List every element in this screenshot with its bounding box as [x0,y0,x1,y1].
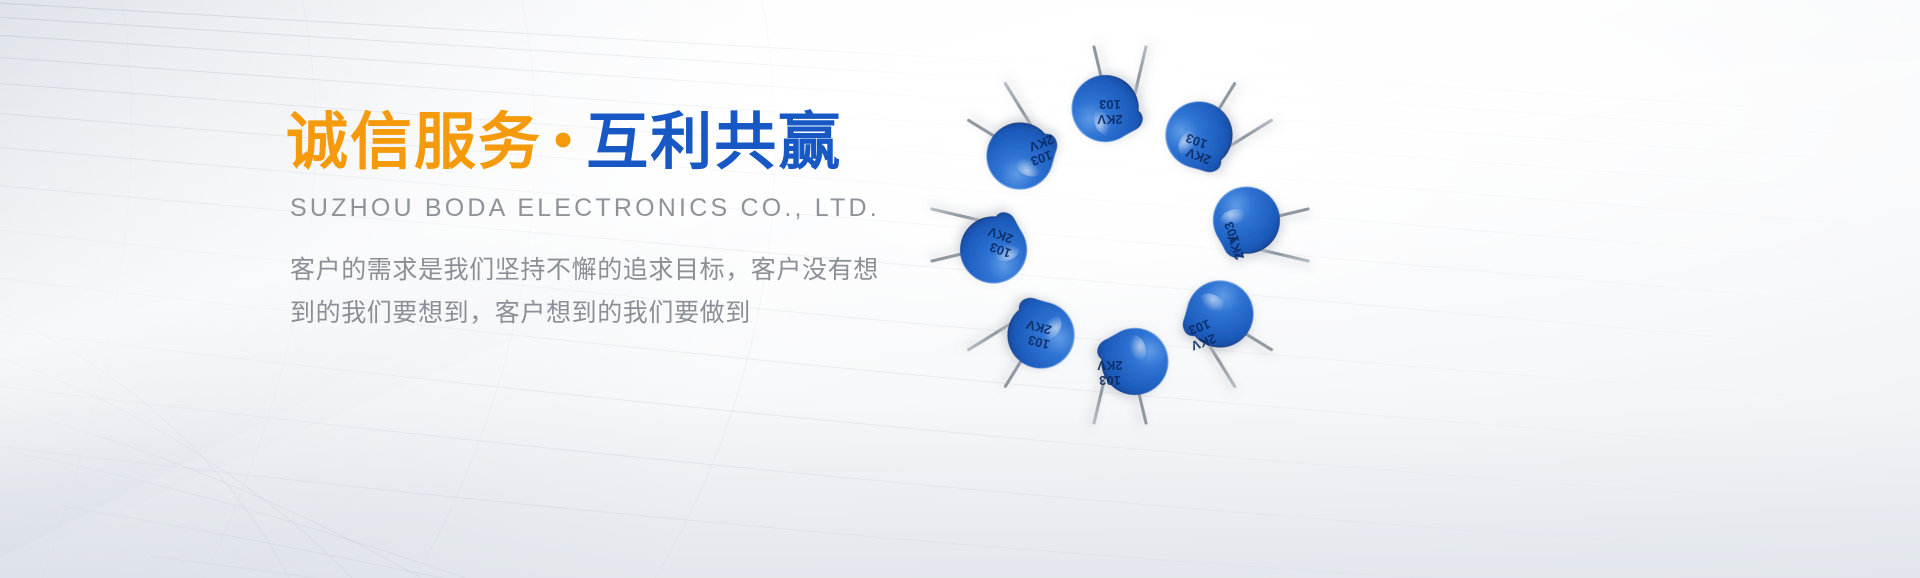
headline-blue-segment: 互利共赢 [586,108,842,177]
capacitor-ring-image: 103 2KV 103 2KV 103 2KV [930,45,1310,425]
headline: 诚信服务•互利共赢 [286,110,966,176]
capacitor-bottom-left: 2KV 103 [969,283,1088,402]
description-line-1: 客户的需求是我们坚持不懈的追求目标，客户没有想 [290,249,915,292]
hero-banner: 诚信服务•互利共赢 SUZHOU BODA ELECTRONICS CO., L… [0,0,1920,578]
banner-description: 客户的需求是我们坚持不懈的追求目标，客户没有想 到的我们要想到，客户想到的我们要… [290,249,915,335]
capacitor-top-right: 103 2KV [1152,68,1272,188]
capacitor-marking-line1: 2KV [1097,358,1123,373]
banner-text-block: 诚信服务•互利共赢 SUZHOU BODA ELECTRONICS CO., L… [286,110,966,335]
capacitor-bottom-right: 103 2KV [1160,267,1287,394]
capacitor-marking-line2: 103 [1099,373,1121,388]
headline-separator-dot: • [542,111,586,169]
capacitor-marking-line2: 2KV [1097,112,1123,127]
capacitor-left: 2KV 103 [932,209,1027,283]
company-name-subtitle: SUZHOU BODA ELECTRONICS CO., LTD. [290,194,966,223]
capacitor-right: 103 2KV [1213,187,1308,262]
description-line-2: 到的我们要想到，客户想到的我们要做到 [290,292,915,335]
headline-orange-segment: 诚信服务 [286,108,542,177]
capacitor-ring-svg: 103 2KV 103 2KV 103 2KV [930,45,1310,425]
capacitor-top-left: 2KV 103 [953,82,1074,203]
capacitor-group: 103 2KV 103 2KV 103 2KV [932,47,1308,423]
capacitor-marking-line1: 103 [1099,97,1121,112]
capacitor-top: 103 2KV [1072,47,1146,142]
capacitor-bottom: 2KV 103 [1094,328,1168,423]
